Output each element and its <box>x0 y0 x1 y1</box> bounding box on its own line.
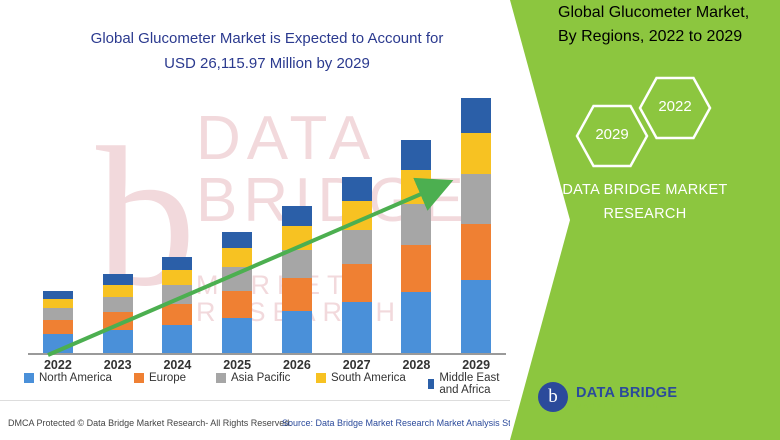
brand-line-2: RESEARCH <box>510 206 780 222</box>
legend-label: North America <box>39 372 112 384</box>
stacked-bar-chart: 20222023202420252026202720282029 <box>0 70 510 355</box>
legend-item-asia-pacific[interactable]: Asia Pacific <box>216 372 290 384</box>
legend-item-south-america[interactable]: South America <box>316 372 406 384</box>
footer-logo: b DATA BRIDGE MARKET RESEARCH <box>538 382 677 412</box>
hexagon-2022: 2022 <box>638 76 712 140</box>
legend-label: Middle East and Africa <box>439 372 512 396</box>
logo-text-line-1: DATA BRIDGE <box>576 385 677 401</box>
headline: Global Glucometer Market is Expected to … <box>52 26 482 76</box>
footer-source: Source: Data Bridge Market Research Mark… <box>282 418 548 428</box>
legend-swatch-icon <box>428 379 434 389</box>
legend-label: South America <box>331 372 406 384</box>
footer-divider <box>0 400 510 401</box>
footer-copyright: DMCA Protected © Data Bridge Market Rese… <box>8 418 292 428</box>
hexagon-group: 2029 2022 <box>575 88 755 168</box>
legend-label: Asia Pacific <box>231 372 290 384</box>
panel-title-line-1: Global Glucometer Market, <box>558 4 749 22</box>
brand-line-1: DATA BRIDGE MARKET <box>510 182 780 198</box>
chart-legend: North AmericaEuropeAsia PacificSouth Ame… <box>0 372 512 392</box>
legend-swatch-icon <box>134 373 144 383</box>
legend-item-north-america[interactable]: North America <box>24 372 112 384</box>
legend-swatch-icon <box>316 373 326 383</box>
legend-item-middle-east-and-africa[interactable]: Middle East and Africa <box>428 372 512 396</box>
bar-segment <box>461 98 491 133</box>
legend-swatch-icon <box>24 373 34 383</box>
logo-mark-icon: b <box>538 382 568 412</box>
legend-swatch-icon <box>216 373 226 383</box>
logo-text: DATA BRIDGE MARKET RESEARCH <box>576 385 677 410</box>
panel-title-line-2: By Regions, 2022 to 2029 <box>558 28 742 46</box>
headline-line-1: Global Glucometer Market is Expected to … <box>52 26 482 51</box>
legend-label: Europe <box>149 372 186 384</box>
logo-text-line-2: MARKET RESEARCH <box>576 403 677 410</box>
hexagon-2022-label: 2022 <box>638 98 712 115</box>
right-green-panel: Global Glucometer Market, By Regions, 20… <box>510 0 780 440</box>
infographic-root: b DATA BRIDGE MARKET RESEARCH Global Glu… <box>0 0 780 440</box>
legend-item-europe[interactable]: Europe <box>134 372 186 384</box>
